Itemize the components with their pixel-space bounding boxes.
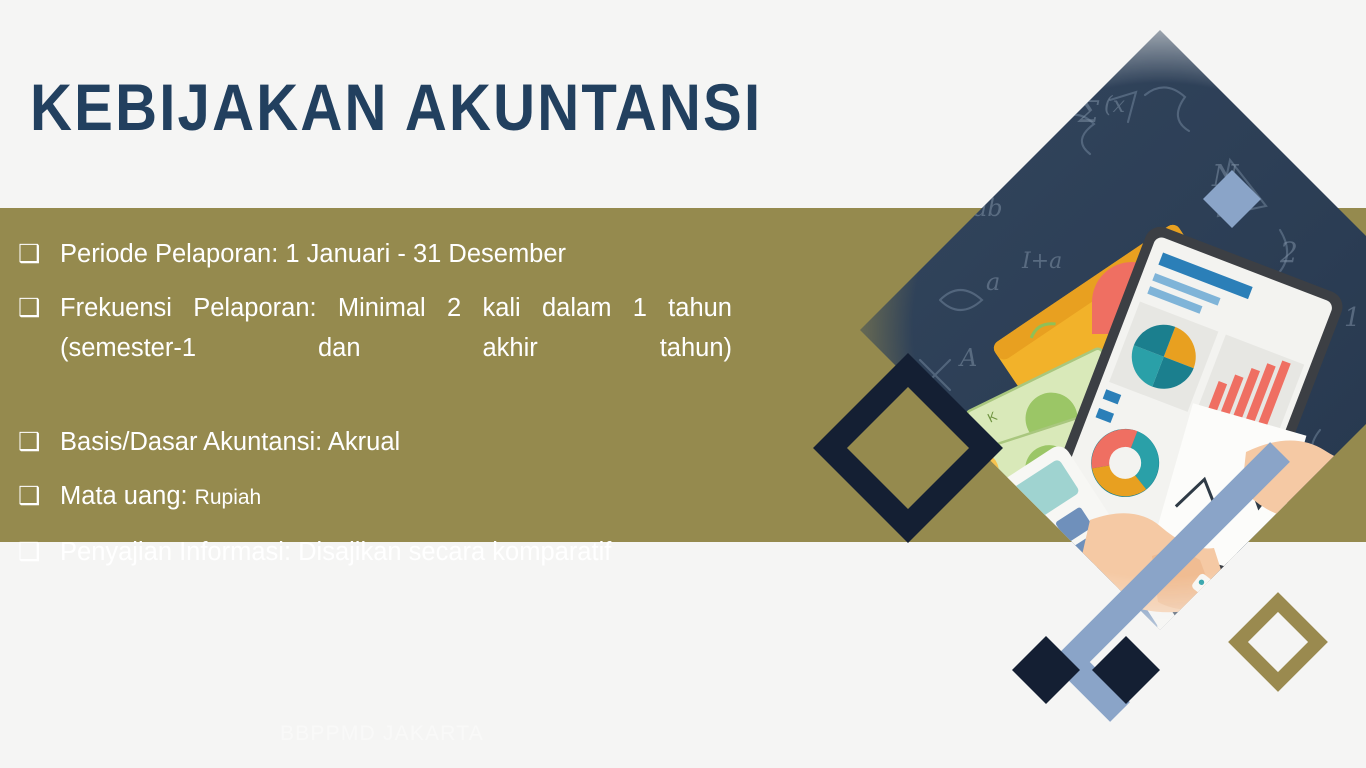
list-item-label: Mata uang: Rupiah [60, 476, 261, 518]
list-item: ❑ Periode Pelaporan: 1 Januari - 31 Dese… [14, 234, 760, 274]
checkbox-bullet-icon: ❑ [14, 234, 60, 274]
band-edge-spacer-top [760, 0, 1366, 208]
checkbox-bullet-icon: ❑ [14, 288, 60, 328]
list-item: ❑ Mata uang: Rupiah [14, 476, 760, 518]
diamond-outline-gold [1238, 602, 1318, 682]
list-item: ❑ Frekuensi Pelaporan: Minimal 2 kali da… [14, 288, 760, 408]
checkbox-bullet-icon: ❑ [14, 422, 60, 462]
presentation-slide: Σ (x N 2 3 1 Σab a I+a A C lim μ Ca [0, 0, 1366, 768]
diamond-filled-navy [1012, 636, 1160, 704]
list-item-label-main: Mata uang: [60, 482, 195, 510]
checkbox-bullet-icon: ❑ [14, 532, 60, 572]
page-title: KEBIJAKAN AKUNTANSI [30, 73, 762, 142]
list-item-label: Periode Pelaporan: 1 Januari - 31 Desemb… [60, 234, 566, 274]
slide-footer: BBPPMD JAKARTA [280, 722, 484, 746]
list-item-label: Basis/Dasar Akuntansi: Akrual [60, 422, 400, 462]
list-item-label: Penyajian Informasi: Disajikan secara ko… [60, 532, 611, 572]
list-item-label-value: Rupiah [195, 486, 262, 509]
bullet-list: ❑ Periode Pelaporan: 1 Januari - 31 Dese… [0, 208, 760, 542]
list-item-label: Frekuensi Pelaporan: Minimal 2 kali dala… [60, 288, 732, 408]
list-item: ❑ Penyajian Informasi: Disajikan secara … [14, 532, 760, 572]
checkbox-bullet-icon: ❑ [14, 476, 60, 516]
list-item: ❑ Basis/Dasar Akuntansi: Akrual [14, 422, 760, 462]
